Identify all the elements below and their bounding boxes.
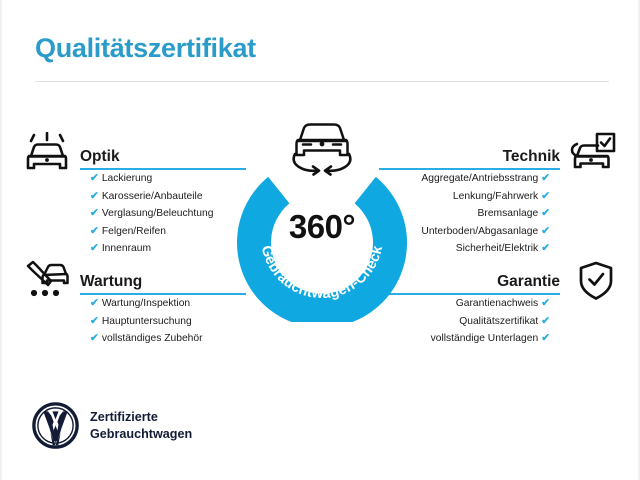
- list-item-label: Verglasung/Beleuchtung: [102, 208, 214, 219]
- list-item: Aggregate/Antriebsstrang✔: [380, 170, 560, 188]
- check-icon: ✔: [90, 207, 99, 219]
- check-icon: ✔: [541, 225, 550, 237]
- list-item: Qualitätszertifikat✔: [380, 313, 560, 331]
- list-item-label: vollständiges Zubehör: [102, 333, 203, 344]
- footer-brand: Zertifizierte Gebrauchtwagen: [32, 402, 192, 449]
- list-item-label: Aggregate/Antriebsstrang: [421, 173, 538, 184]
- list-item: Unterboden/Abgasanlage✔: [380, 223, 560, 241]
- section-optik-list: ✔Lackierung ✔Karosserie/Anbauteile ✔Verg…: [80, 170, 245, 258]
- section-technik-header: Technik: [380, 140, 560, 170]
- section-wartung-list: ✔Wartung/Inspektion ✔Hauptuntersuchung ✔…: [80, 295, 245, 348]
- check-icon: ✔: [90, 190, 99, 202]
- list-item-label: Bremsanlage: [478, 208, 539, 219]
- section-optik-header: Optik: [80, 140, 245, 170]
- check-icon: ✔: [541, 332, 550, 344]
- wrench-car-icon: [24, 260, 70, 307]
- check-icon: ✔: [90, 225, 99, 237]
- section-garantie: Garantie Garantienachweis✔ Qualitätszert…: [380, 265, 560, 348]
- badge-360-check: Gebrauchtwagen-Check 360°: [237, 152, 407, 322]
- car-shine-icon: [24, 132, 70, 179]
- list-item-label: Unterboden/Abgasanlage: [421, 226, 538, 237]
- volkswagen-logo: [32, 402, 79, 449]
- section-wartung-divider: [80, 293, 246, 295]
- list-item: ✔Wartung/Inspektion: [80, 295, 245, 313]
- section-garantie-header: Garantie: [380, 265, 560, 295]
- list-item: Sicherheit/Elektrik✔: [380, 240, 560, 258]
- list-item: Garantienachweis✔: [380, 295, 560, 313]
- section-optik: Optik ✔Lackierung ✔Karosserie/Anbauteile…: [80, 140, 245, 258]
- brand-line-2: Gebrauchtwagen: [90, 426, 192, 443]
- check-icon: ✔: [541, 315, 550, 327]
- list-item: ✔vollständiges Zubehör: [80, 330, 245, 348]
- section-technik-list: Aggregate/Antriebsstrang✔ Lenkung/Fahrwe…: [380, 170, 560, 258]
- check-icon: ✔: [541, 297, 550, 309]
- list-item: ✔Karosserie/Anbauteile: [80, 188, 245, 206]
- check-icon: ✔: [541, 207, 550, 219]
- list-item: ✔Felgen/Reifen: [80, 223, 245, 241]
- section-garantie-title: Garantie: [497, 273, 560, 291]
- list-item: ✔Innenraum: [80, 240, 245, 258]
- check-icon: ✔: [541, 172, 550, 184]
- check-icon: ✔: [90, 242, 99, 254]
- badge-center-label: 360°: [237, 208, 407, 246]
- car-rotate-icon: [285, 118, 359, 180]
- section-wartung: Wartung ✔Wartung/Inspektion ✔Hauptunters…: [80, 265, 245, 348]
- list-item-label: Karosserie/Anbauteile: [102, 191, 203, 202]
- list-item-label: Wartung/Inspektion: [102, 298, 190, 309]
- section-technik: Technik Aggregate/Antriebsstrang✔ Lenkun…: [380, 140, 560, 258]
- check-icon: ✔: [90, 297, 99, 309]
- shield-check-icon: [576, 260, 616, 307]
- list-item-label: Garantienachweis: [456, 298, 538, 309]
- list-item-label: Innenraum: [102, 243, 151, 254]
- section-optik-divider: [80, 168, 246, 170]
- title-divider: [35, 81, 609, 82]
- car-checkbox-icon: [568, 132, 616, 179]
- check-icon: ✔: [90, 332, 99, 344]
- check-icon: ✔: [541, 190, 550, 202]
- section-wartung-header: Wartung: [80, 265, 245, 295]
- list-item: Bremsanlage✔: [380, 205, 560, 223]
- check-icon: ✔: [90, 315, 99, 327]
- page-title: Qualitätszertifikat: [35, 33, 256, 64]
- list-item-label: vollständige Unterlagen: [431, 333, 539, 344]
- section-technik-title: Technik: [503, 148, 560, 166]
- list-item: vollständige Unterlagen✔: [380, 330, 560, 348]
- section-optik-title: Optik: [80, 148, 120, 166]
- list-item-label: Sicherheit/Elektrik: [456, 243, 538, 254]
- section-wartung-title: Wartung: [80, 273, 142, 291]
- check-icon: ✔: [541, 242, 550, 254]
- section-garantie-list: Garantienachweis✔ Qualitätszertifikat✔ v…: [380, 295, 560, 348]
- list-item: Lenkung/Fahrwerk✔: [380, 188, 560, 206]
- list-item: ✔Verglasung/Beleuchtung: [80, 205, 245, 223]
- list-item: ✔Hauptuntersuchung: [80, 313, 245, 331]
- list-item-label: Lenkung/Fahrwerk: [453, 191, 538, 202]
- brand-text: Zertifizierte Gebrauchtwagen: [90, 409, 192, 442]
- list-item-label: Qualitätszertifikat: [459, 316, 538, 327]
- list-item-label: Hauptuntersuchung: [102, 316, 192, 327]
- check-icon: ✔: [90, 172, 99, 184]
- list-item: ✔Lackierung: [80, 170, 245, 188]
- list-item-label: Felgen/Reifen: [102, 226, 166, 237]
- brand-line-1: Zertifizierte: [90, 409, 192, 426]
- list-item-label: Lackierung: [102, 173, 152, 184]
- certificate-canvas: Qualitätszertifikat: [0, 0, 640, 480]
